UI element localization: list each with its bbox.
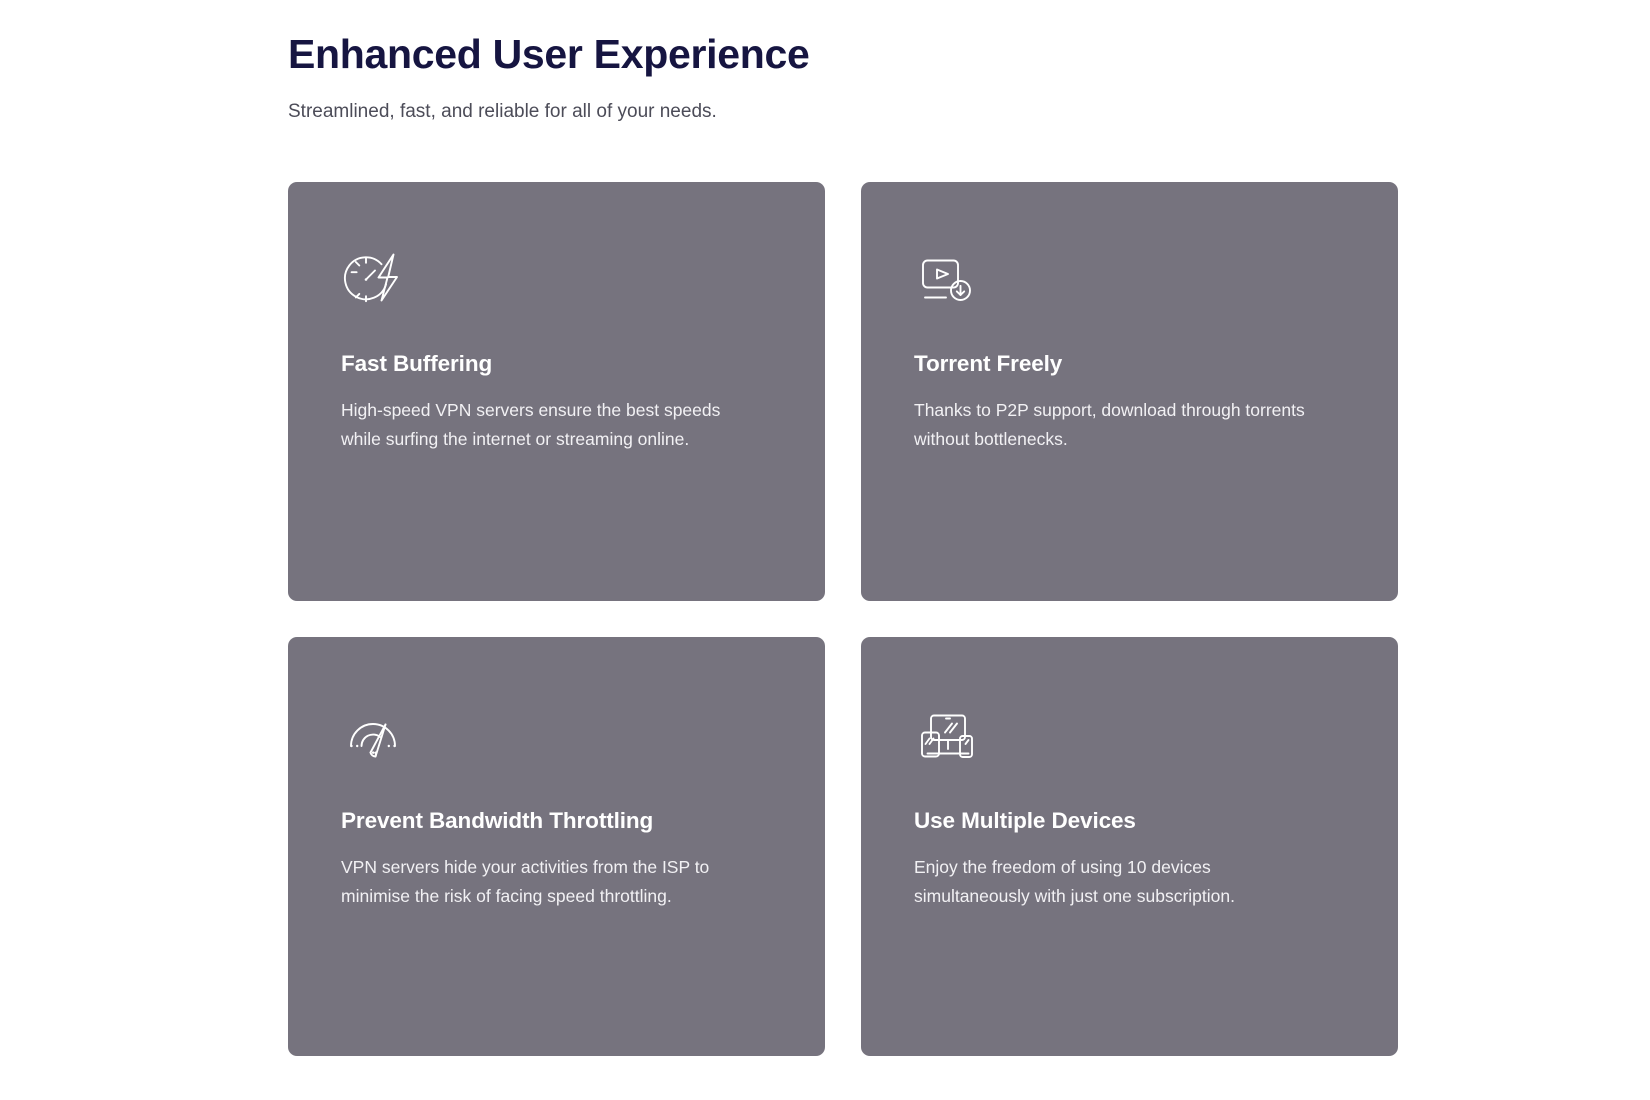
speed-gauge-bolt-icon <box>341 248 405 312</box>
card-body: VPN servers hide your activities from th… <box>341 853 741 911</box>
page-title: Enhanced User Experience <box>288 30 1398 78</box>
speedometer-icon <box>341 705 405 769</box>
feature-card-prevent-bandwidth-throttling[interactable]: Prevent Bandwidth Throttling VPN servers… <box>288 637 825 1056</box>
feature-card-use-multiple-devices[interactable]: Use Multiple Devices Enjoy the freedom o… <box>861 637 1398 1056</box>
card-title: Torrent Freely <box>914 350 1345 378</box>
video-download-icon <box>914 248 978 312</box>
card-title: Use Multiple Devices <box>914 807 1345 835</box>
enhanced-user-experience-page: Enhanced User Experience Streamlined, fa… <box>0 0 1650 1100</box>
card-body: Thanks to P2P support, download through … <box>914 396 1314 454</box>
multiple-devices-icon <box>914 705 978 769</box>
feature-card-torrent-freely[interactable]: Torrent Freely Thanks to P2P support, do… <box>861 182 1398 601</box>
card-body: Enjoy the freedom of using 10 devices si… <box>914 853 1314 911</box>
page-subtitle: Streamlined, fast, and reliable for all … <box>288 99 1398 126</box>
feature-card-fast-buffering[interactable]: Fast Buffering High-speed VPN servers en… <box>288 182 825 601</box>
section-header: Enhanced User Experience Streamlined, fa… <box>288 30 1398 126</box>
feature-card-grid: Fast Buffering High-speed VPN servers en… <box>288 182 1398 1056</box>
card-title: Fast Buffering <box>341 350 772 378</box>
card-title: Prevent Bandwidth Throttling <box>341 807 772 835</box>
card-body: High-speed VPN servers ensure the best s… <box>341 396 741 454</box>
